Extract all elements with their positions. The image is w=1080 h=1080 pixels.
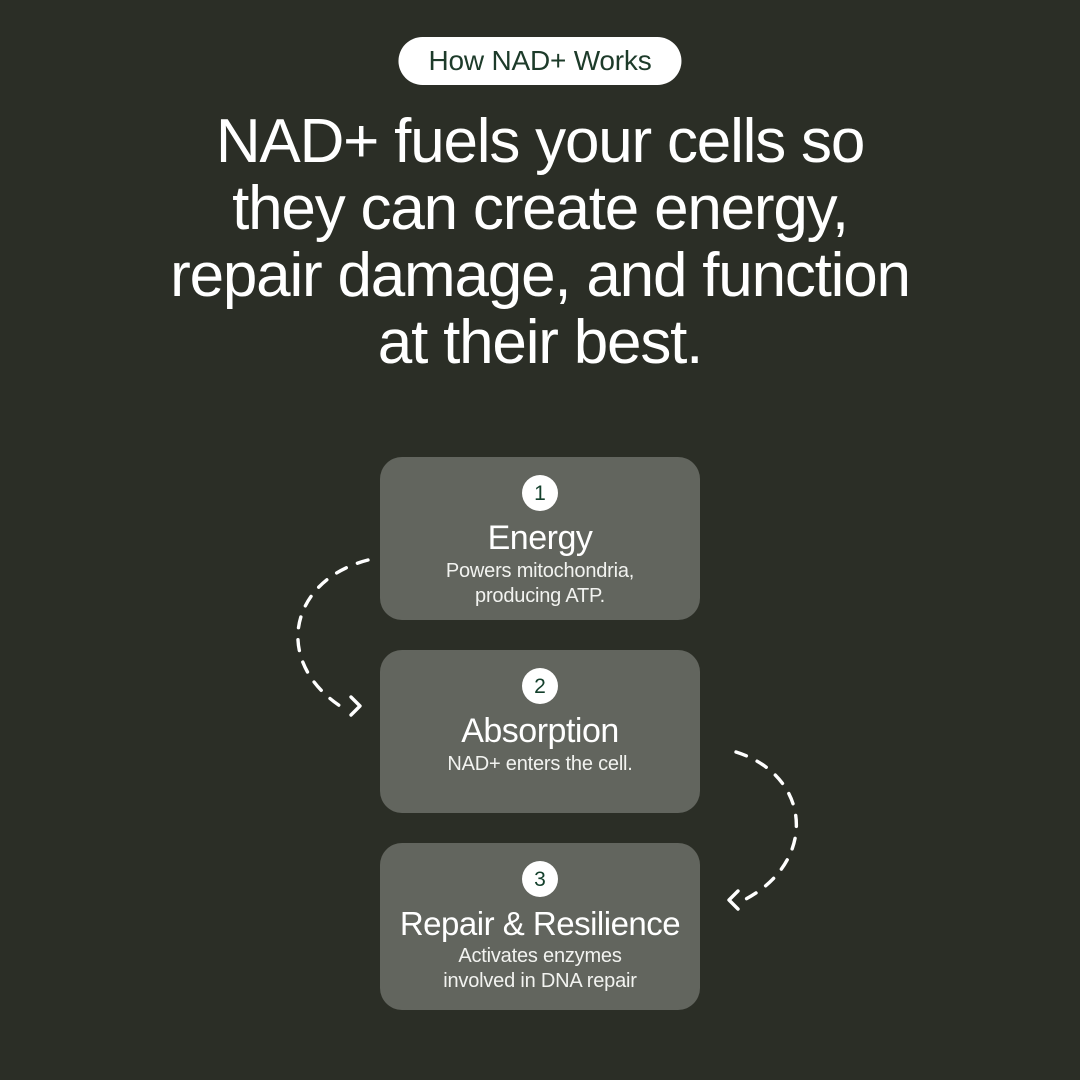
step-description-line-2: producing ATP. (475, 585, 605, 607)
step-number-badge: 3 (522, 861, 558, 897)
arrow-step1-to-step2-icon (298, 560, 368, 715)
step-number-badge: 1 (522, 475, 558, 511)
steps-stack: 1 Energy Powers mitochondria, producing … (380, 457, 700, 1010)
step-description-line-1: NAD+ enters the cell. (447, 753, 632, 775)
step-number-label: 2 (534, 676, 546, 697)
step-description-line-2: involved in DNA repair (443, 970, 636, 992)
headline-line-1: NAD+ fuels your cells so (60, 108, 1020, 175)
step-description: Activates enzymes involved in DNA repair (394, 944, 686, 994)
headline-line-2: they can create energy, (60, 175, 1020, 242)
headline-line-4: at their best. (60, 309, 1020, 376)
eyebrow-pill: How NAD+ Works (398, 37, 681, 85)
step-description: Powers mitochondria, producing ATP. (394, 559, 686, 609)
step-number-badge: 2 (522, 668, 558, 704)
step-card-absorption[interactable]: 2 Absorption NAD+ enters the cell. (380, 650, 700, 813)
page-title: NAD+ fuels your cells so they can create… (0, 108, 1080, 376)
step-title: Repair & Resilience (394, 906, 686, 942)
step-number-label: 3 (534, 869, 546, 890)
eyebrow-label: How NAD+ Works (428, 47, 651, 75)
headline-line-3: repair damage, and function (60, 242, 1020, 309)
infographic-canvas: How NAD+ Works NAD+ fuels your cells so … (0, 0, 1080, 1080)
step-number-label: 1 (534, 483, 546, 504)
step-description-line-1: Powers mitochondria, (446, 560, 634, 582)
step-description-line-1: Activates enzymes (458, 945, 621, 967)
step-description: NAD+ enters the cell. (394, 752, 686, 777)
step-title: Energy (394, 520, 686, 557)
step-card-repair-resilience[interactable]: 3 Repair & Resilience Activates enzymes … (380, 843, 700, 1010)
arrow-step2-to-step3-icon (729, 752, 796, 909)
step-title: Absorption (394, 713, 686, 750)
step-card-energy[interactable]: 1 Energy Powers mitochondria, producing … (380, 457, 700, 620)
